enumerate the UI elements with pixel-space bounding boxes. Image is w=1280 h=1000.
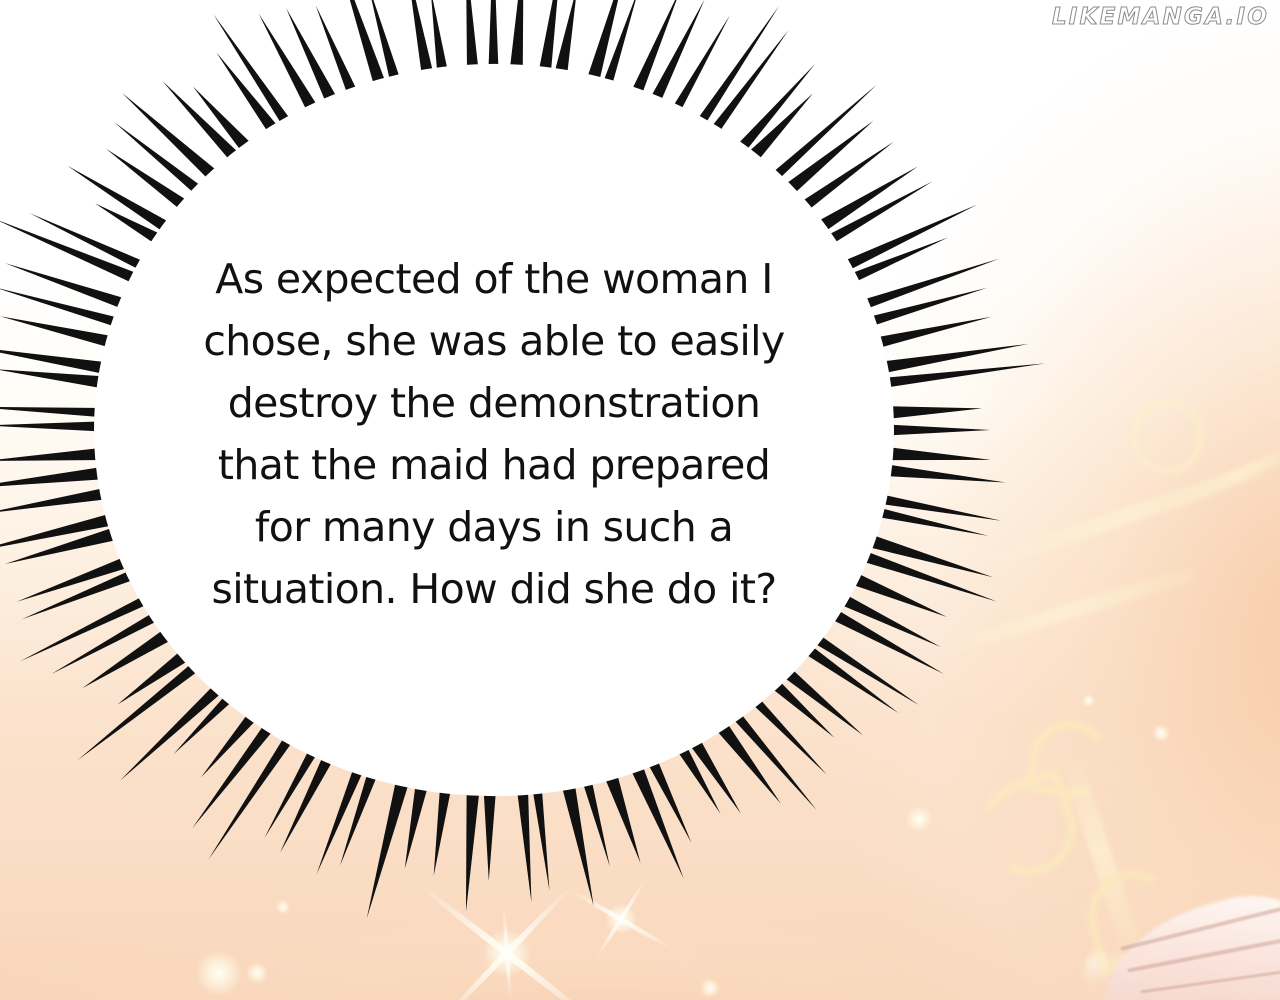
burst-spike (466, 0, 479, 74)
burst-spike (840, 204, 977, 272)
burst-spike (604, 769, 641, 863)
burst-spike (709, 30, 788, 135)
burst-spike (517, 785, 532, 902)
burst-spike (0, 487, 111, 513)
burst-spike (882, 447, 991, 460)
burst-spike (649, 0, 705, 105)
burst-spike (120, 683, 224, 781)
burst-spike (735, 64, 815, 154)
burst-spike (0, 448, 106, 461)
manga-panel: As expected of the woman I chose, she wa… (0, 0, 1280, 1000)
burst-spike (0, 369, 108, 389)
burst-spike (864, 534, 993, 577)
burst-spike (0, 467, 108, 489)
burst-spike (286, 8, 338, 106)
burst-spike (510, 0, 524, 75)
burst-spike (554, 0, 578, 79)
burst-spike (484, 786, 497, 881)
burst-spike (213, 14, 292, 128)
burst-spike (82, 627, 174, 688)
site-watermark: LIKEMANGA.IO (1052, 4, 1269, 30)
burst-spike (630, 0, 681, 98)
burst-spike (872, 317, 992, 349)
burst-spike (106, 149, 190, 212)
burst-spike (750, 696, 827, 775)
burst-spike (367, 776, 410, 919)
burst-spike (431, 0, 449, 77)
burst-spike (802, 644, 898, 714)
burst-spike (67, 166, 172, 234)
burst-spike (883, 406, 983, 419)
burst-spike (881, 464, 1006, 483)
burst-spike (883, 425, 990, 436)
burst-spike (340, 769, 378, 866)
burst-spike (0, 407, 105, 417)
burst-spike (811, 633, 919, 705)
burst-spike (434, 783, 452, 875)
burst-spike (873, 507, 988, 536)
burst-spike (671, 15, 730, 114)
burst-spike (798, 142, 893, 213)
burst-spike (488, 0, 498, 73)
burst-spike (406, 0, 433, 79)
burst-spike (0, 347, 111, 375)
burst-spike (466, 785, 480, 911)
burst-spike (696, 6, 780, 127)
burst-spike (582, 776, 610, 866)
burst-spike (532, 784, 549, 890)
burst-spike (405, 780, 429, 869)
burst-spike (0, 421, 104, 431)
speech-bubble-text: As expected of the woman I chose, she wa… (186, 248, 802, 620)
